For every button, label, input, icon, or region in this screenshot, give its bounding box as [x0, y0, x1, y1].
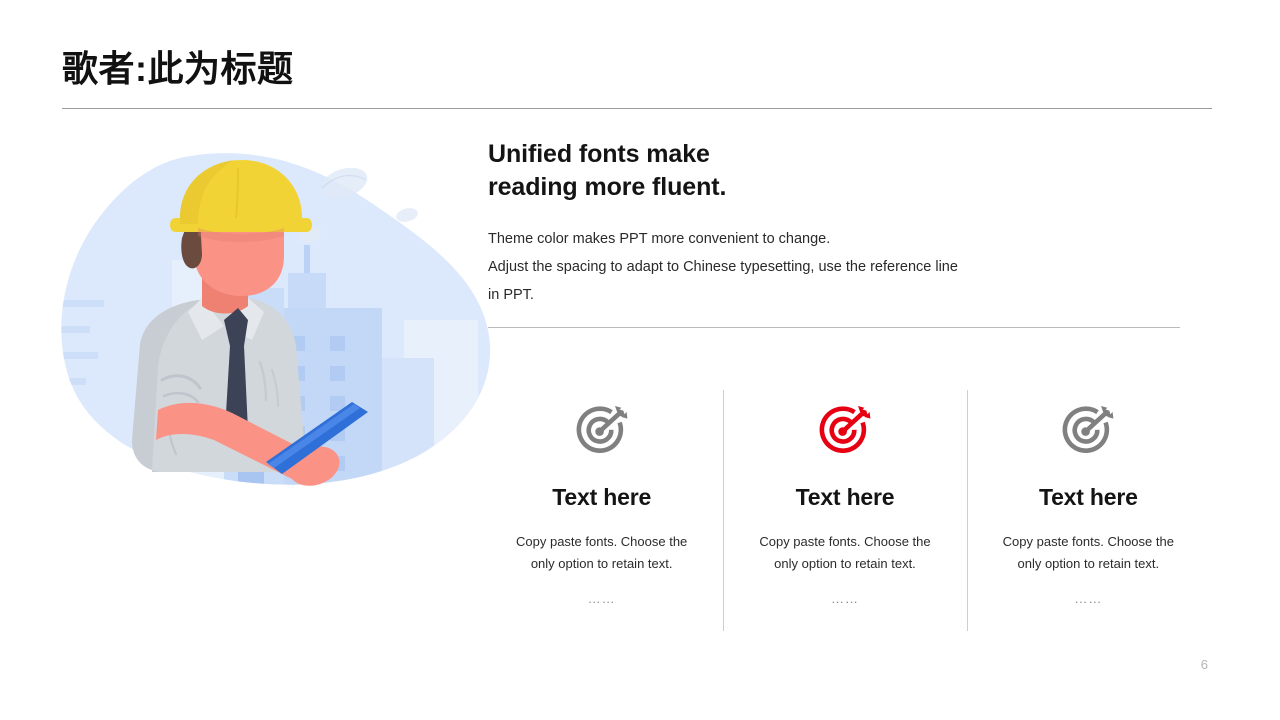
feature-description: Copy paste fonts. Choose the only option…: [759, 531, 930, 575]
feature-title: Text here: [552, 484, 651, 511]
feature-description-line-2: only option to retain text.: [759, 553, 930, 575]
paragraph-line-3: in PPT.: [488, 281, 1188, 309]
header-divider: [62, 108, 1212, 109]
content-paragraph: Theme color makes PPT more convenient to…: [488, 225, 1188, 309]
feature-description: Copy paste fonts. Choose the only option…: [516, 531, 687, 575]
paragraph-line-1: Theme color makes PPT more convenient to…: [488, 225, 1188, 253]
target-arrow-icon: [571, 400, 633, 458]
feature-column-2[interactable]: Text here Copy paste fonts. Choose the o…: [723, 388, 966, 633]
content-divider: [488, 327, 1180, 328]
feature-column-3[interactable]: Text here Copy paste fonts. Choose the o…: [967, 388, 1210, 633]
target-arrow-icon: [1057, 400, 1119, 458]
headline-line-1: Unified fonts make: [488, 138, 1188, 171]
feature-description-line-2: only option to retain text.: [1003, 553, 1174, 575]
feature-description-line-1: Copy paste fonts. Choose the: [516, 531, 687, 553]
feature-description: Copy paste fonts. Choose the only option…: [1003, 531, 1174, 575]
feature-title: Text here: [796, 484, 895, 511]
headline-line-2: reading more fluent.: [488, 171, 1188, 204]
feature-description-line-2: only option to retain text.: [516, 553, 687, 575]
feature-description-line-1: Copy paste fonts. Choose the: [759, 531, 930, 553]
content-column: Unified fonts make reading more fluent. …: [488, 138, 1188, 309]
feature-more-ellipsis: ……: [1074, 591, 1102, 606]
engineer-with-tablet-illustration: [52, 140, 502, 490]
content-headline: Unified fonts make reading more fluent.: [488, 138, 1188, 203]
feature-columns: Text here Copy paste fonts. Choose the o…: [480, 388, 1210, 633]
paragraph-line-2: Adjust the spacing to adapt to Chinese t…: [488, 253, 1188, 281]
feature-column-1[interactable]: Text here Copy paste fonts. Choose the o…: [480, 388, 723, 633]
feature-title: Text here: [1039, 484, 1138, 511]
feature-more-ellipsis: ……: [831, 591, 859, 606]
feature-more-ellipsis: ……: [588, 591, 616, 606]
feature-description-line-1: Copy paste fonts. Choose the: [1003, 531, 1174, 553]
page-title: 歌者:此为标题: [62, 48, 1212, 89]
slide-header: 歌者:此为标题: [62, 48, 1212, 89]
page-number: 6: [1201, 657, 1208, 672]
target-arrow-icon: [814, 400, 876, 458]
